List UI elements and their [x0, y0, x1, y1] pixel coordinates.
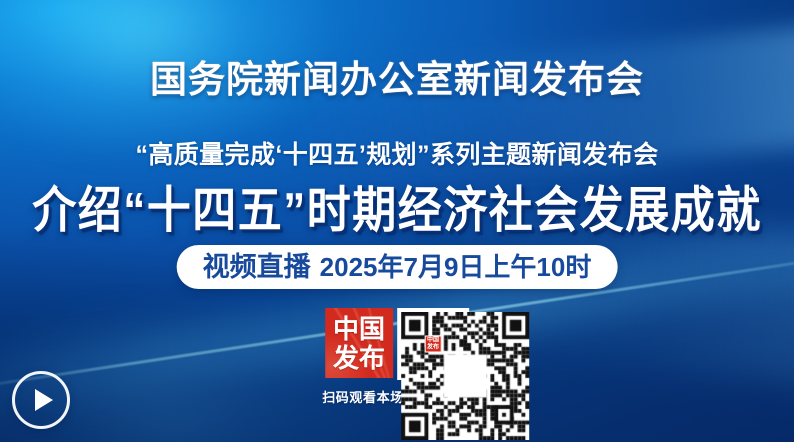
brand-logo-line-2: 发布	[333, 344, 385, 372]
qr-center-line-1: 中国	[427, 337, 439, 344]
broadcast-poster: 国务院新闻办公室新闻发布会 “高质量完成‘十四五’规划”系列主题新闻发布会 介绍…	[0, 0, 794, 442]
series-subtitle: “高质量完成‘十四五’规划”系列主题新闻发布会	[0, 139, 794, 171]
qr-modules	[401, 312, 529, 440]
brand-logo-line-1: 中国	[333, 315, 385, 343]
qr-block: 中国 发布 中国 发布 扫码观看本场发布会直播	[322, 308, 472, 406]
qr-code[interactable]: 中国 发布	[397, 308, 469, 380]
qr-center-logo: 中国 发布	[424, 336, 441, 353]
page-title: 国务院新闻办公室新闻发布会	[0, 58, 794, 102]
poster-content: 国务院新闻办公室新闻发布会 “高质量完成‘十四五’规划”系列主题新闻发布会 介绍…	[0, 0, 794, 442]
live-schedule-badge: 视频直播 2025年7月9日上午10时	[177, 245, 618, 289]
event-headline: 介绍“十四五”时期经济社会发展成就	[0, 181, 794, 241]
live-label: 视频直播	[203, 254, 311, 281]
live-datetime: 2025年7月9日上午10时	[320, 254, 592, 280]
qr-row: 中国 发布 中国 发布	[325, 308, 469, 380]
play-icon	[35, 389, 53, 411]
play-button[interactable]	[12, 371, 70, 429]
brand-logo: 中国 发布	[325, 308, 393, 378]
qr-center-line-2: 发布	[427, 344, 439, 351]
